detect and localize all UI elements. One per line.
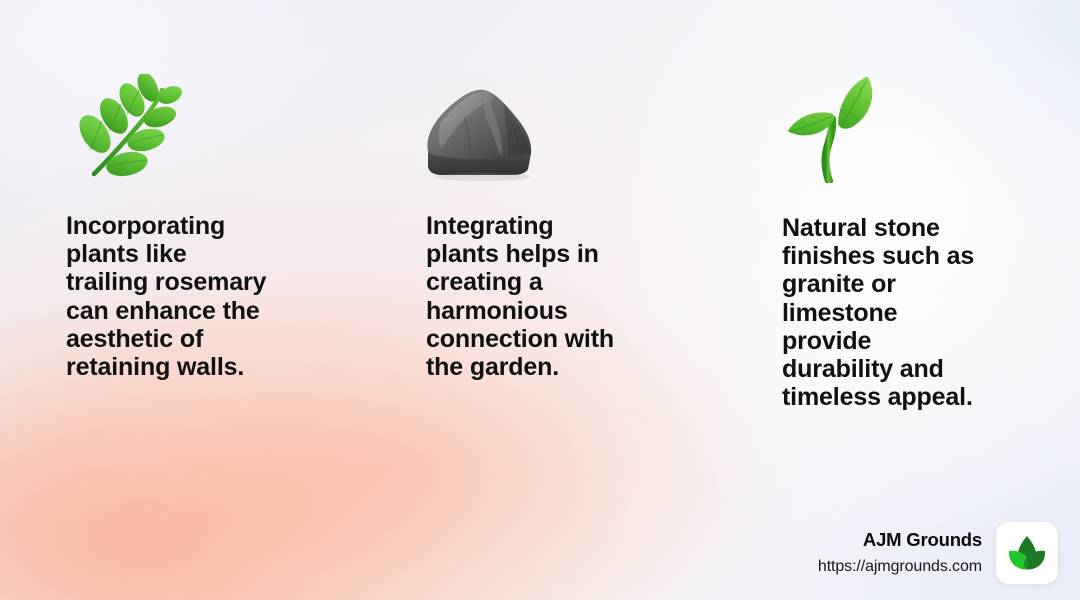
brand-text-group: AJM Grounds https://ajmgrounds.com xyxy=(818,531,982,575)
herb-branch-icon xyxy=(74,72,182,184)
infographic-canvas: Incorporating plants like trailing rosem… xyxy=(0,0,1080,600)
brand-name: AJM Grounds xyxy=(818,531,982,550)
brand-footer[interactable]: AJM Grounds https://ajmgrounds.com xyxy=(818,522,1058,584)
column-1-text: Incorporating plants like trailing rosem… xyxy=(66,212,266,381)
seedling-icon xyxy=(776,72,894,184)
content-column-3: Natural stone finishes such as granite o… xyxy=(782,0,1042,600)
brand-logo[interactable] xyxy=(996,522,1058,584)
three-leaf-logo-icon xyxy=(1005,531,1049,575)
content-columns: Incorporating plants like trailing rosem… xyxy=(0,0,1080,600)
content-column-1: Incorporating plants like trailing rosem… xyxy=(66,0,366,600)
rock-icon xyxy=(420,74,538,186)
content-column-2: Integrating plants helps in creating a h… xyxy=(426,0,716,600)
brand-url[interactable]: https://ajmgrounds.com xyxy=(818,559,982,575)
column-3-text: Natural stone finishes such as granite o… xyxy=(782,214,974,411)
column-2-text: Integrating plants helps in creating a h… xyxy=(426,212,614,381)
